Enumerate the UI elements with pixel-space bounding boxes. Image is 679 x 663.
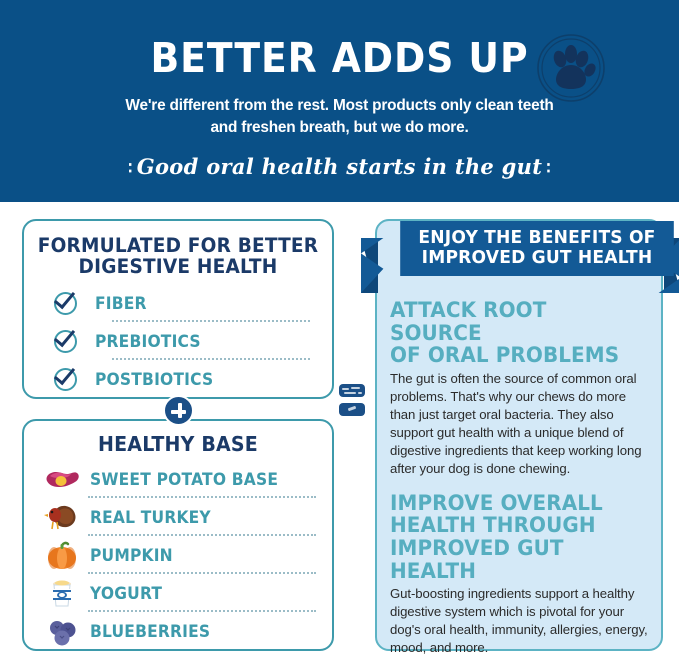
header-subtitle-line2: and freshen breath, but we do more. [0,117,679,139]
script-deco-left-icon: ∶ [124,159,137,179]
header-banner: BETTER ADDS UP We're different from the … [0,0,679,205]
paw-print-icon [535,32,607,104]
list-item: PUMPKIN [24,536,332,574]
benefit-section-1-body: The gut is often the source of common or… [390,370,652,478]
list-item-label: REAL TURKEY [90,508,211,527]
list-item-label: PUMPKIN [90,546,173,565]
list-item: POSTBIOTICS [24,361,332,399]
benefit-section-2-heading: IMPROVE OVERALL HEALTH THROUGH IMPROVED … [390,492,639,583]
digestive-health-card: FORMULATED FOR BETTER DIGESTIVE HEALTH F… [22,219,334,399]
list-item-label: YOGURT [90,584,162,603]
check-circle-icon [54,290,81,317]
benefit-1-heading-line2: OF ORAL PROBLEMS [390,344,639,367]
ribbon-line1: ENJOY THE BENEFITS OF [400,228,674,248]
turkey-icon [42,501,82,533]
dental-chew-badge-icon [339,384,365,397]
script-deco-right-icon: ∶ [542,159,555,179]
ribbon-line2: IMPROVED GUT HEALTH [400,248,674,268]
benefit-2-heading-line3: IMPROVED GUT HEALTH [390,537,639,582]
check-circle-icon [54,366,81,393]
list-item-label: BLUEBERRIES [90,622,210,641]
content-area: FORMULATED FOR BETTER DIGESTIVE HEALTH F… [0,205,679,663]
list-item: SWEET POTATO BASE [24,460,332,498]
list-item: YOGURT [24,574,332,612]
list-item: BLUEBERRIES [24,612,332,650]
plus-badge-icon [163,395,194,426]
benefits-body: ATTACK ROOT SOURCE OF ORAL PROBLEMS The … [377,299,665,657]
header-script-tagline: ∶Good oral health starts in the gut∶ [0,154,679,179]
blueberries-icon [42,615,82,647]
list-item: FIBER [24,285,332,323]
benefit-2-heading-line2: HEALTH THROUGH [390,514,639,537]
benefit-section-2-body: Gut-boosting ingredients support a healt… [390,585,652,657]
list-item-label: PREBIOTICS [95,332,201,351]
benefit-section-1-heading: ATTACK ROOT SOURCE OF ORAL PROBLEMS [390,299,639,367]
healthy-base-card: HEALTHY BASE SWEET POTATO BASE [22,419,334,651]
base-card-heading: HEALTHY BASE [32,433,325,455]
sweet-potato-icon [42,463,82,495]
list-item: REAL TURKEY [24,498,332,536]
header-subtitle-line1: We're different from the rest. Most prod… [0,95,679,117]
header-subtitle: We're different from the rest. Most prod… [0,95,679,139]
pumpkin-icon [42,539,82,571]
digestive-card-heading: FORMULATED FOR BETTER DIGESTIVE HEALTH [32,235,325,278]
digestive-heading-line1: FORMULATED FOR BETTER [32,235,325,256]
list-item-label: POSTBIOTICS [95,370,213,389]
list-item-label: SWEET POTATO BASE [90,470,278,489]
ribbon-label: ENJOY THE BENEFITS OF IMPROVED GUT HEALT… [400,221,674,276]
dental-chew-badge-small-icon [339,403,365,416]
row-divider [112,320,310,322]
list-item-label: FIBER [95,294,147,313]
gut-health-benefits-card: ENJOY THE BENEFITS OF IMPROVED GUT HEALT… [375,219,663,651]
benefit-2-heading-line1: IMPROVE OVERALL [390,492,639,515]
digestive-heading-line2: DIGESTIVE HEALTH [32,256,325,277]
check-circle-icon [54,328,81,355]
list-item: PREBIOTICS [24,323,332,361]
row-divider [112,358,310,360]
header-script-text: Good oral health starts in the gut [137,154,542,179]
benefit-1-heading-line1: ATTACK ROOT SOURCE [390,299,639,344]
yogurt-cup-icon [42,577,82,609]
middle-badges [339,384,365,422]
